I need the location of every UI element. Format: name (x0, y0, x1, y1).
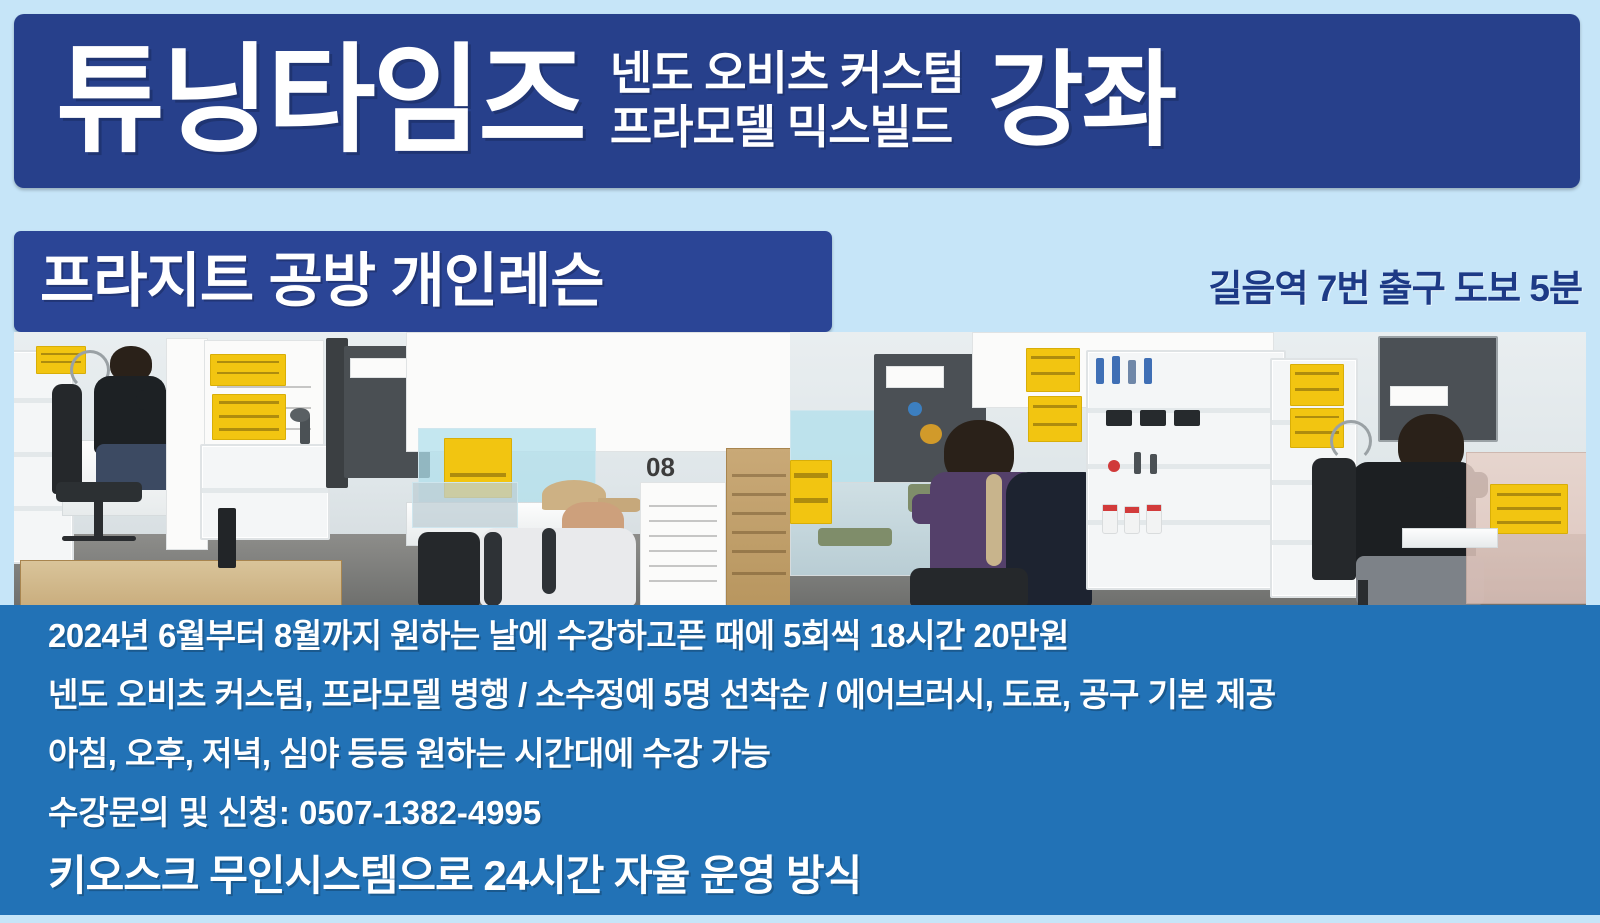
office-chair-back (52, 384, 82, 494)
booth-number: 08 (646, 452, 675, 483)
header-badge-lecture: 강좌 (988, 49, 1175, 153)
airbrush-head (290, 408, 310, 422)
booth-filter (886, 366, 944, 388)
booth-filter (350, 358, 410, 378)
subtitle-band-text: 프라지트 공방 개인레슨 (40, 252, 604, 311)
poster-root: 튜닝타임즈 넨도 오비츠 커스텀 프라모델 믹스빌드 강좌 프라지트 공방 개인… (0, 0, 1600, 915)
apron-strap (542, 528, 556, 594)
display-box (1174, 410, 1200, 426)
info-lines: 2024년 6월부터 8월까지 원하는 날에 수강하고픈 때에 5회씩 18시간… (48, 619, 1580, 923)
person-legs (1356, 556, 1484, 605)
lamp-arm (1330, 420, 1372, 462)
workbench (1402, 528, 1498, 548)
person-body (480, 528, 636, 605)
paint-dot (920, 424, 942, 444)
display-tool (1128, 360, 1136, 384)
booth-filter (1390, 386, 1448, 406)
info-band: 2024년 6월부터 8월까지 원하는 날에 수강하고픈 때에 5회씩 18시간… (0, 605, 1600, 915)
workshop-photo-right (790, 332, 1586, 605)
office-chair-back (1312, 458, 1356, 580)
yellow-sign (212, 394, 286, 440)
info-line-kiosk: 키오스크 무인시스템으로 24시간 자율 운영 방식 (48, 855, 1580, 897)
display-tool (1112, 356, 1120, 384)
office-chair-seat (56, 482, 142, 502)
location-text: 길음역 7번 출구 도보 5분 (1208, 258, 1582, 312)
clamp (218, 508, 236, 568)
yellow-sign (210, 354, 286, 386)
apron-strap (986, 474, 1002, 566)
instruction-board (640, 482, 726, 605)
yellow-sign (1490, 484, 1568, 534)
paint-bottle (1146, 504, 1162, 534)
photo-strip: 08 (14, 332, 1586, 605)
foreground-counter (20, 560, 342, 605)
desk-glass (412, 482, 518, 528)
header-subtitle-group: 넨도 오비츠 커스텀 프라모델 믹스빌드 (610, 48, 964, 153)
display-box (1140, 410, 1166, 426)
display-box (1106, 410, 1132, 426)
header-bar: 튜닝타임즈 넨도 오비츠 커스텀 프라모델 믹스빌드 강좌 (14, 14, 1580, 188)
brand-title: 튜닝타임즈 (56, 42, 584, 160)
person-body (94, 376, 166, 454)
info-line-timeslots: 아침, 오후, 저녁, 심야 등등 원하는 시간대에 수강 가능 (48, 737, 1580, 770)
office-chair-post (94, 500, 103, 538)
display-tool (1144, 358, 1152, 384)
office-chair-back (418, 532, 480, 605)
instruction-board (726, 448, 790, 605)
display-tool (1096, 358, 1104, 384)
paint-dot (908, 402, 922, 416)
header-subtitle-line1: 넨도 오비츠 커스텀 (610, 48, 964, 100)
info-line-curriculum: 넨도 오비츠 커스텀, 프라모델 병행 / 소수정예 5명 선착순 / 에어브러… (48, 678, 1580, 711)
office-chair-post (1358, 580, 1368, 605)
yellow-sign (1028, 396, 1082, 442)
display-tool (1134, 452, 1141, 474)
person-arm (912, 494, 968, 524)
display-tool (1150, 454, 1157, 474)
header-subtitle-line2: 프라모델 믹스빌드 (610, 102, 964, 154)
office-chair-base (62, 536, 136, 541)
yellow-sign (1026, 348, 1080, 392)
yellow-sign (1290, 364, 1344, 406)
info-line-contact[interactable]: 수강문의 및 신청: 0507-1382-4995 (48, 796, 1580, 829)
paint-bottle (1102, 504, 1118, 534)
yellow-sign (790, 460, 832, 524)
office-chair-back (910, 568, 1028, 605)
info-line-schedule: 2024년 6월부터 8월까지 원하는 날에 수강하고픈 때에 5회씩 18시간… (48, 619, 1580, 652)
paint-dot (1108, 460, 1120, 472)
subtitle-band: 프라지트 공방 개인레슨 (14, 231, 832, 332)
workshop-photo-left: 08 (14, 332, 790, 605)
apron-strap (484, 532, 502, 605)
paint-bottle (1124, 506, 1140, 534)
model-kit-part (818, 528, 892, 546)
